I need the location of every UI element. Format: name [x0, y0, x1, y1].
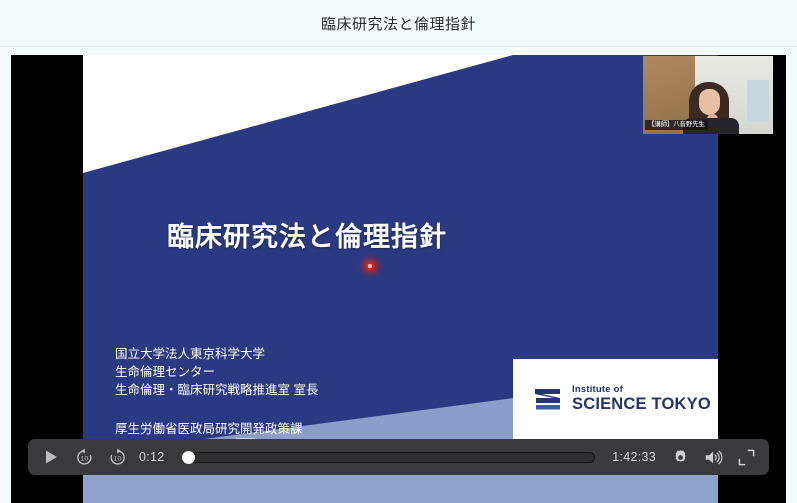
affiliation-line-1: 国立大学法人東京科学大学 — [115, 345, 318, 363]
rewind-10-icon: 10 — [75, 448, 94, 467]
page-header: 臨床研究法と倫理指針 — [0, 0, 797, 47]
webcam-overlay[interactable]: 【講師】八音野先生 — [643, 56, 773, 134]
current-time-label: 0:12 — [139, 450, 165, 464]
fullscreen-icon — [738, 449, 755, 466]
institute-logo-sub: Institute of — [572, 385, 711, 395]
video-player[interactable]: Institute of SCIENCE TOKYO 臨床研究法と倫理指針 国立… — [11, 55, 786, 503]
fullscreen-button[interactable] — [735, 446, 757, 468]
slide-affiliation-block: 国立大学法人東京科学大学 生命倫理センター 生命倫理・臨床研究戦略推進室 室長 — [115, 345, 318, 399]
webcam-background-door — [747, 80, 769, 122]
institute-logo: Institute of SCIENCE TOKYO — [533, 385, 711, 412]
science-tokyo-s-mark-icon — [533, 386, 563, 412]
gear-icon — [672, 449, 689, 466]
rewind-10-label: 10 — [80, 455, 88, 462]
laser-pointer-core — [368, 264, 372, 268]
affiliation-line-2: 生命倫理センター — [115, 363, 318, 381]
ministry-line: 厚生労働省医政局研究開発政策課 — [115, 420, 303, 438]
play-button[interactable] — [40, 446, 62, 468]
webcam-name-label: 【講師】八音野先生 — [645, 120, 708, 130]
slide-white-wedge — [83, 55, 718, 185]
forward-10-icon: 10 — [108, 448, 127, 467]
progress-track[interactable] — [182, 452, 596, 463]
play-icon — [43, 449, 59, 465]
institute-logo-text: Institute of SCIENCE TOKYO — [572, 385, 711, 412]
affiliation-line-3: 生命倫理・臨床研究戦略推進室 室長 — [115, 381, 318, 399]
forward-10-button[interactable]: 10 — [106, 446, 128, 468]
volume-icon — [704, 449, 723, 466]
webcam-speaker-face — [699, 89, 720, 115]
progress-slider[interactable] — [182, 452, 596, 463]
institute-logo-main: SCIENCE TOKYO — [572, 396, 711, 413]
rewind-10-button[interactable]: 10 — [73, 446, 95, 468]
settings-button[interactable] — [669, 446, 691, 468]
presentation-slide: Institute of SCIENCE TOKYO 臨床研究法と倫理指針 国立… — [83, 55, 718, 503]
volume-button[interactable] — [702, 446, 724, 468]
slide-title: 臨床研究法と倫理指針 — [167, 215, 447, 254]
page-title: 臨床研究法と倫理指針 — [0, 13, 797, 34]
progress-handle[interactable] — [182, 451, 195, 464]
video-controls-bar: 10 10 0:12 1:42:33 — [28, 439, 769, 475]
duration-label: 1:42:33 — [612, 450, 656, 464]
forward-10-label: 10 — [113, 455, 121, 462]
laser-pointer-dot — [357, 253, 383, 279]
